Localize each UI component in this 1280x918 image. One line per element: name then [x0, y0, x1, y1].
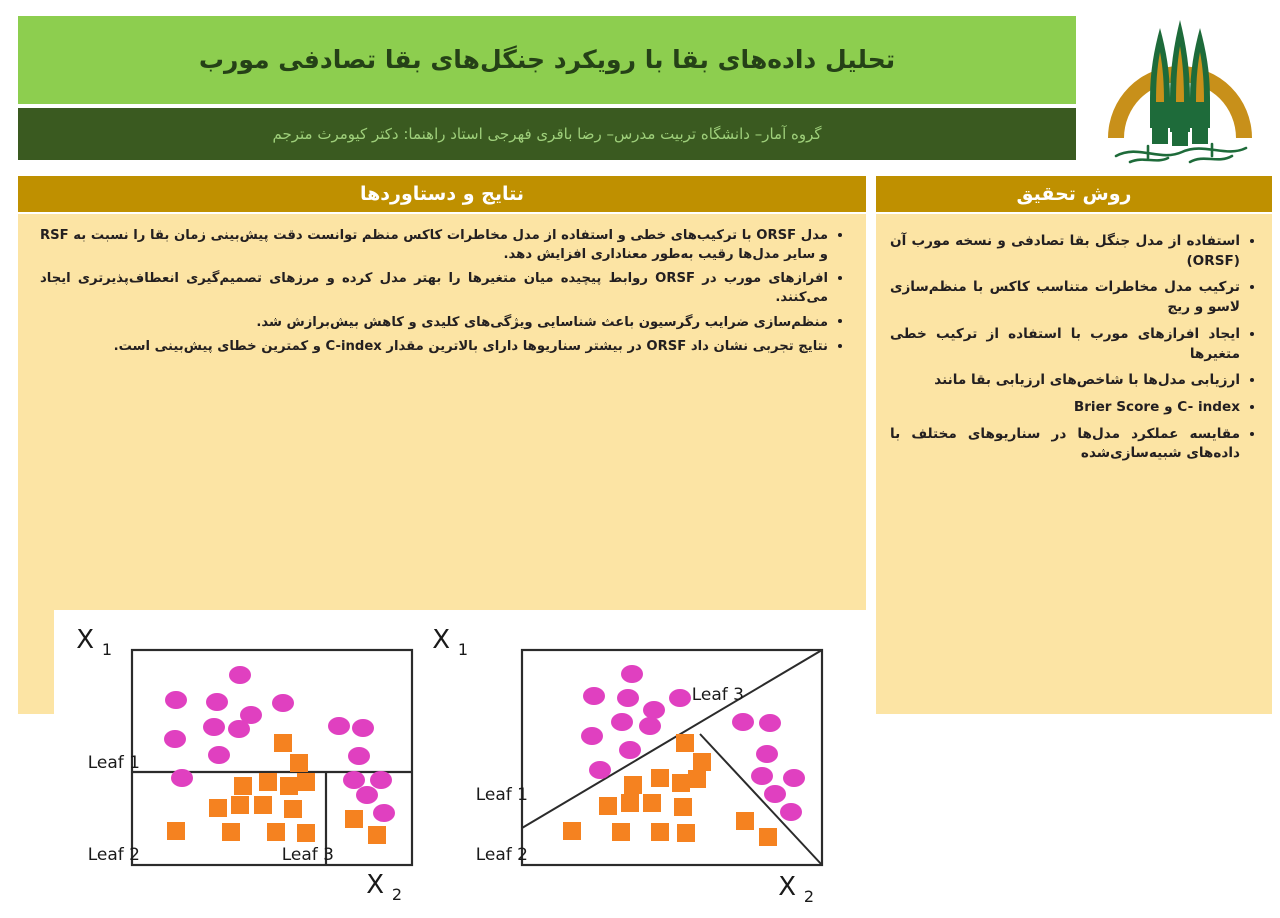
leaf-label: Leaf 1: [476, 785, 528, 805]
list-item: مقایسه عملکرد مدل‌ها در سناریوهای مختلف …: [890, 425, 1258, 464]
svg-text:1: 1: [458, 640, 468, 659]
poster-title-bar: تحلیل داده‌های بقا با رویکرد جنگل‌های بق…: [18, 16, 1076, 104]
svg-text:X: X: [76, 625, 94, 655]
results-section-title: نتایج و دستاوردها: [360, 183, 524, 205]
leaf-label: Leaf 1: [88, 753, 140, 773]
svg-text:X: X: [366, 870, 384, 900]
list-item: C- index و Brier Score: [890, 398, 1258, 418]
svg-text:2: 2: [392, 885, 402, 904]
list-item: افرازهای مورب در ORSF روابط پیچیده میان …: [40, 269, 846, 307]
svg-text:X: X: [432, 625, 450, 655]
list-item: نتایج تجربی نشان داد ORSF در بیشتر سناری…: [40, 337, 846, 356]
poster-root: تحلیل داده‌های بقا با رویکرد جنگل‌های بق…: [0, 0, 1280, 720]
results-panel: مدل ORSF با ترکیب‌های خطی و استفاده از م…: [18, 214, 866, 714]
leaf-label: Leaf 3: [692, 685, 744, 705]
method-bullet-list: استفاده از مدل جنگل بقا تصادفی و نسخه مو…: [890, 232, 1258, 471]
method-section-header: روش تحقیق: [876, 176, 1272, 212]
poster-title: تحلیل داده‌های بقا با رویکرد جنگل‌های بق…: [185, 46, 909, 75]
svg-text:2: 2: [804, 887, 814, 906]
list-item: استفاده از مدل جنگل بقا تصادفی و نسخه مو…: [890, 232, 1258, 271]
svg-text:X: X: [778, 872, 796, 902]
svg-text:1: 1: [102, 640, 112, 659]
poster-subtitle: گروه آمار– دانشگاه تربیت مدرس– رضا باقری…: [272, 125, 821, 143]
list-item: ترکیب مدل مخاطرات متناسب کاکس با منظم‌سا…: [890, 278, 1258, 317]
leaf-partition-figure: X 1: [54, 610, 866, 916]
list-item: ارزیابی مدل‌ها با شاخص‌های ارزیابی بقا م…: [890, 371, 1258, 391]
method-panel: استفاده از مدل جنگل بقا تصادفی و نسخه مو…: [876, 214, 1272, 714]
logo-caption-calligraphy: [1116, 144, 1246, 162]
list-item: مدل ORSF با ترکیب‌های خطی و استفاده از م…: [40, 226, 846, 264]
method-section-title: روش تحقیق: [1017, 183, 1132, 205]
university-logo: [1086, 6, 1274, 170]
results-bullet-list: مدل ORSF با ترکیب‌های خطی و استفاده از م…: [40, 226, 846, 361]
leaf-label: Leaf 3: [282, 845, 334, 865]
list-item: ایجاد افرازهای مورب با استفاده از ترکیب …: [890, 325, 1258, 364]
leaf-label: Leaf 2: [476, 845, 528, 865]
list-item: منظم‌سازی ضرایب رگرسیون باعث شناسایی ویژ…: [40, 313, 846, 332]
leaf-label: Leaf 2: [88, 845, 140, 865]
results-section-header: نتایج و دستاوردها: [18, 176, 866, 212]
poster-subtitle-bar: گروه آمار– دانشگاه تربیت مدرس– رضا باقری…: [18, 108, 1076, 160]
